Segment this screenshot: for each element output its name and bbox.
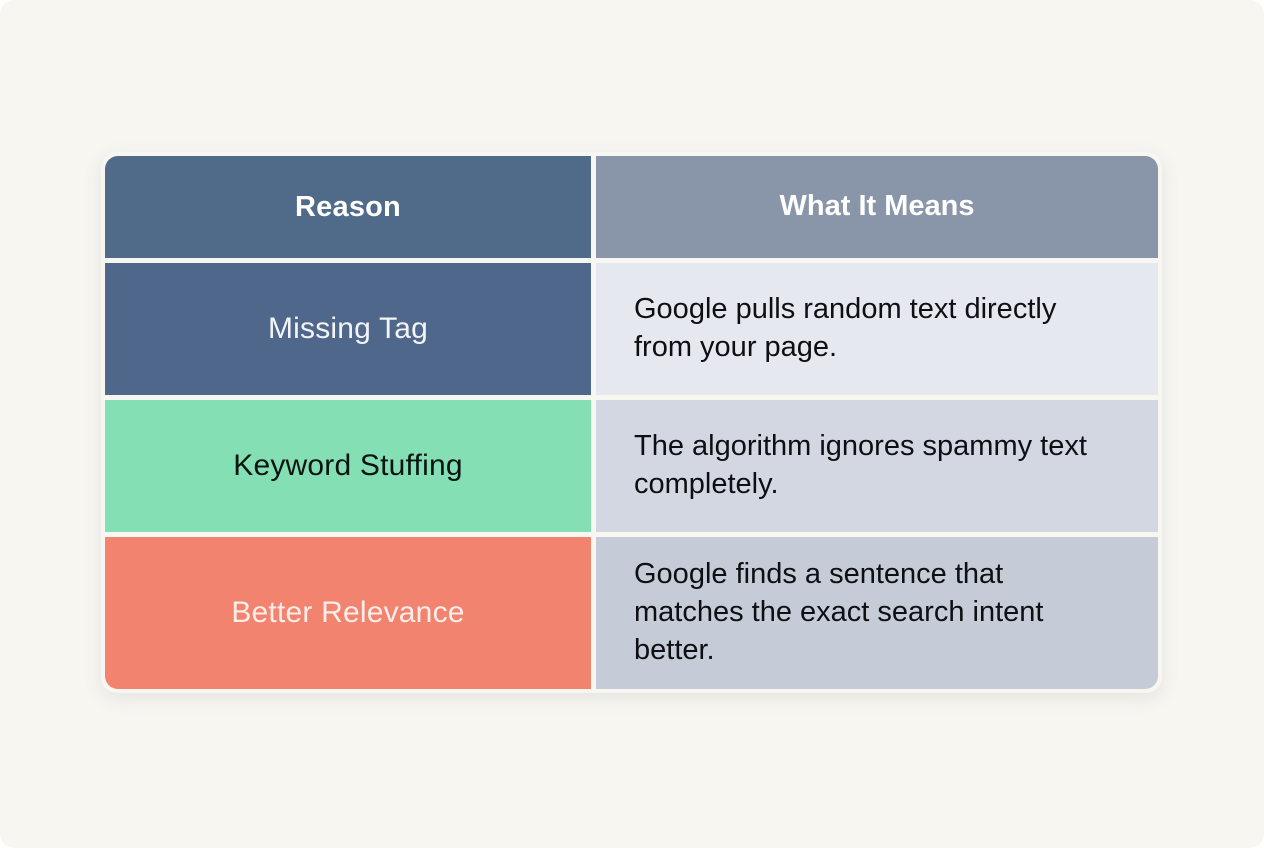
table-header-label-reason: Reason: [295, 191, 401, 224]
cell-meaning-keyword-stuffing: The algorithm ignores spammy text comple…: [634, 428, 1120, 503]
cell-reason-better-relevance: Better Relevance: [231, 596, 464, 630]
table-row: The algorithm ignores spammy text comple…: [596, 400, 1158, 532]
table-row: Google finds a sentence that matches the…: [596, 537, 1158, 689]
table-header-cell-what-it-means: What It Means: [596, 156, 1158, 258]
table-row: Keyword Stuffing: [105, 400, 591, 532]
cell-meaning-better-relevance: Google finds a sentence that matches the…: [634, 556, 1120, 669]
table-header-cell-reason: Reason: [105, 156, 591, 258]
table-row: Google pulls random text directly from y…: [596, 263, 1158, 395]
cell-reason-missing-tag: Missing Tag: [268, 312, 428, 346]
table-row: Missing Tag: [105, 263, 591, 395]
table-header-label-what-it-means: What It Means: [780, 188, 975, 226]
table-row: Better Relevance: [105, 537, 591, 689]
reason-meaning-table: Reason What It Means Missing Tag Google …: [105, 156, 1158, 689]
cell-meaning-missing-tag: Google pulls random text directly from y…: [634, 291, 1120, 366]
page-canvas: Reason What It Means Missing Tag Google …: [0, 0, 1264, 848]
cell-reason-keyword-stuffing: Keyword Stuffing: [233, 449, 462, 483]
